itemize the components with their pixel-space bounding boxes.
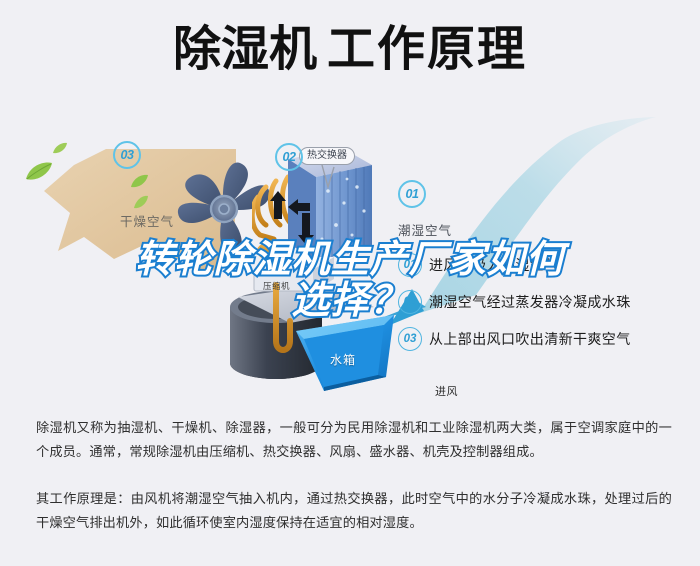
diagram-step-marker-02: 02 (275, 143, 303, 171)
leaf-icon (133, 195, 149, 209)
leaf-icon (52, 142, 68, 155)
step-text-01: 进风口吸入潮湿空气 (429, 255, 559, 275)
step-list: 01 进风口吸入潮湿空气 02 潮湿空气经过蒸发器冷凝成水珠 03 从上部出风口… (398, 246, 698, 357)
body-paragraph-1: 除湿机又称为抽湿机、干燥机、除湿器，一般可分为民用除湿机和工业除湿机两大类，属于… (36, 416, 672, 465)
step-text-03: 从上部出风口吹出清新干爽空气 (429, 329, 631, 349)
step-number-01: 01 (398, 253, 422, 277)
step-number-03: 03 (398, 327, 422, 351)
page-title: 除湿机工作原理 (0, 22, 700, 79)
step-number-02: 02 (398, 290, 422, 314)
step-text-02: 潮湿空气经过蒸发器冷凝成水珠 (429, 292, 631, 312)
diagram-step-marker-01: 01 (398, 180, 426, 208)
water-tank-label: 水箱 (330, 351, 356, 368)
leaf-icon (24, 161, 54, 183)
page-title-part-a: 除湿机 (173, 23, 317, 76)
air-intake-label: 进风 (435, 383, 458, 399)
diagram-step-marker-03: 03 (113, 141, 141, 169)
heat-exchanger-callout-label: 热交换器 (307, 150, 347, 161)
list-item: 03 从上部出风口吹出清新干爽空气 (398, 320, 698, 357)
leaf-icon (130, 173, 149, 188)
list-item: 02 潮湿空气经过蒸发器冷凝成水珠 (398, 283, 698, 320)
page-title-part-b: 工作原理 (327, 23, 527, 76)
dehumidifier-body-icon (224, 245, 399, 405)
article-body: 除湿机又称为抽湿机、干燥机、除湿器，一般可分为民用除湿机和工业除湿机两大类，属于… (36, 416, 672, 536)
dry-air-label: 干燥空气 (120, 211, 174, 230)
humid-air-label: 潮湿空气 (398, 220, 452, 239)
heat-exchanger-callout: 热交换器 (299, 147, 355, 165)
callout-pointer-icon (318, 165, 340, 191)
body-paragraph-2: 其工作原理是：由风机将潮湿空气抽入机内，通过热交换器，此时空气中的水分子冷凝成水… (36, 487, 672, 536)
list-item: 01 进风口吸入潮湿空气 (398, 246, 698, 283)
compressor-label: 压缩机 (263, 280, 290, 292)
